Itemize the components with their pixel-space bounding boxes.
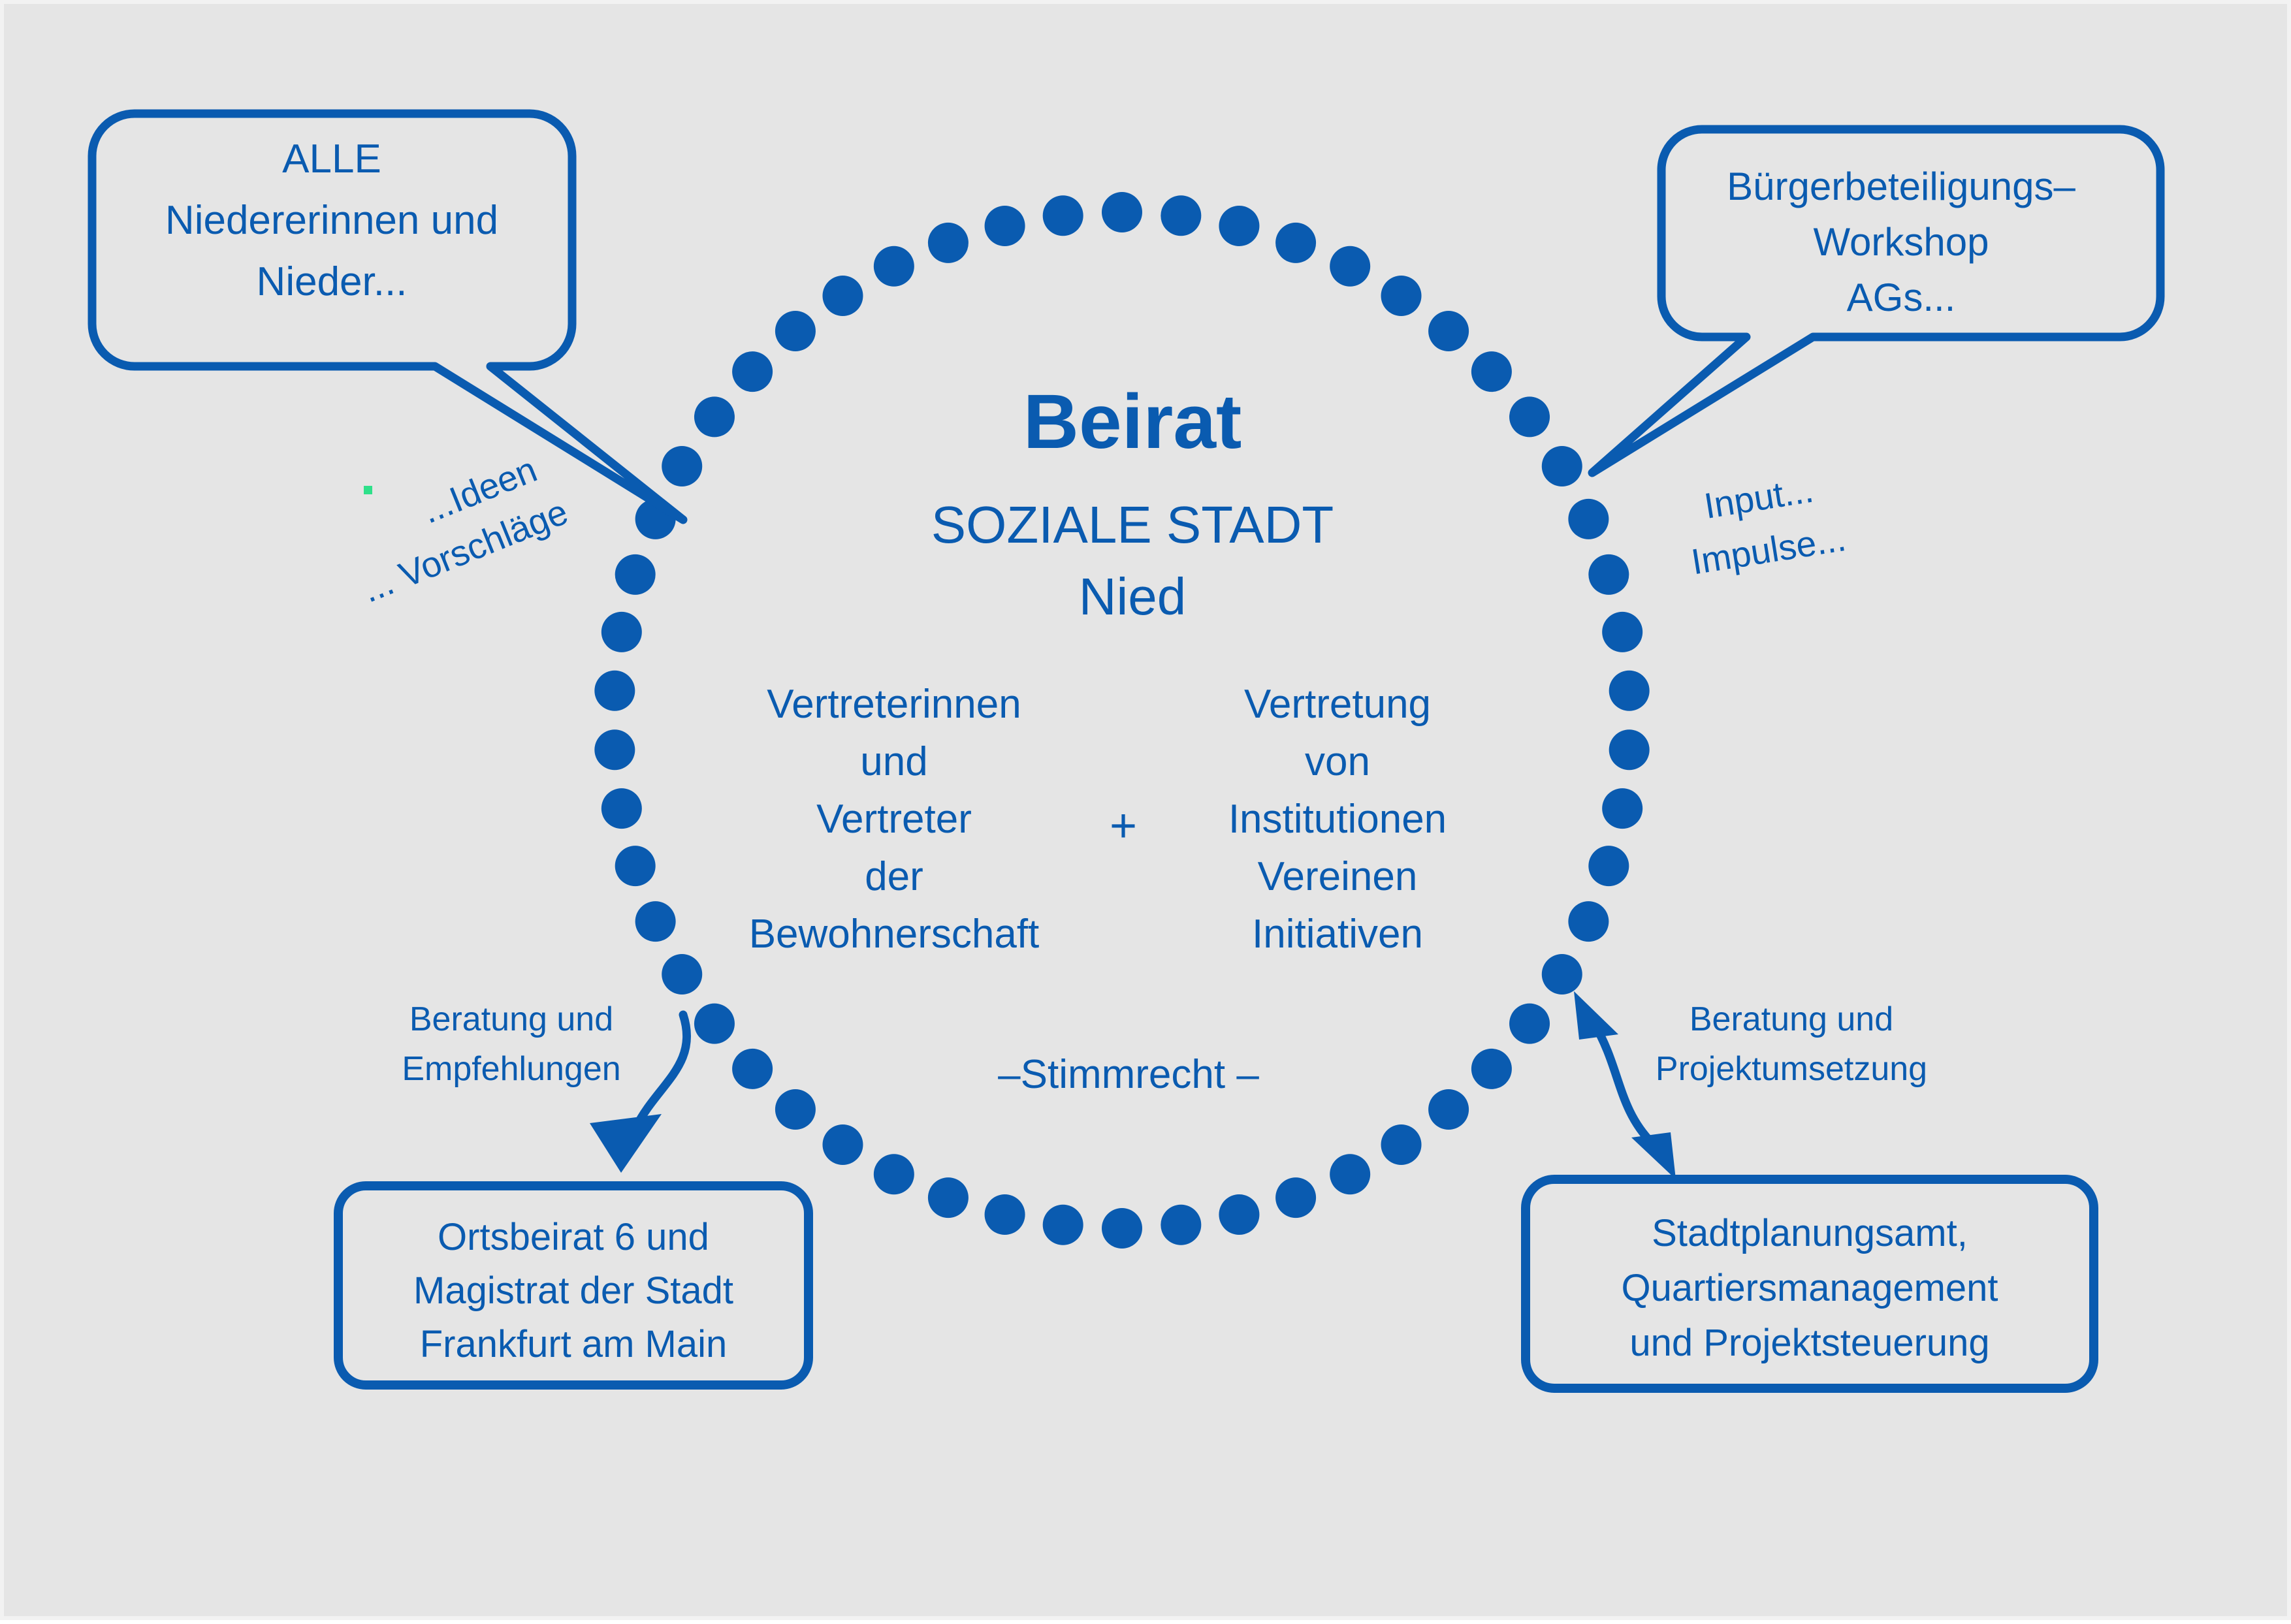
center-right-line-4: Vereinen (1258, 854, 1418, 899)
green-pixel-artifact (364, 486, 372, 494)
center-content: Beirat SOZIALE STADT Nied Vertreterinnen… (749, 379, 1447, 1097)
bottom-right-box[interactable]: Stadtplanungsamt, Quartiersmanagement un… (1526, 1179, 2094, 1388)
beirat-diagram: ALLE Niedererinnen und Nieder... Bürgerb… (4, 4, 2291, 1624)
circle-dot (1219, 1194, 1259, 1235)
right-upper-label-line-1: Input... (1701, 469, 1816, 526)
circle-dot (1219, 206, 1259, 246)
circle-dot (822, 276, 863, 316)
left-lower-label-line-1: Beratung und (409, 1000, 613, 1038)
center-left-line-1: Vertreterinnen (767, 682, 1021, 727)
circle-dot (1428, 311, 1469, 351)
bottom-left-line-1: Ortsbeirat 6 und (438, 1216, 709, 1258)
bottom-left-line-3: Frankfurt am Main (420, 1323, 728, 1365)
bottom-right-line-2: Quartiersmanagement (1621, 1267, 1998, 1309)
center-right-line-2: von (1305, 739, 1370, 784)
bottom-left-line-2: Magistrat der Stadt (413, 1269, 733, 1312)
bottom-left-box[interactable]: Ortsbeirat 6 und Magistrat der Stadt Fra… (338, 1186, 809, 1385)
speech-bubble-top-left[interactable]: ALLE Niedererinnen und Nieder... (92, 114, 683, 520)
circle-dot (1102, 1208, 1142, 1249)
circle-dot (694, 1004, 735, 1044)
connector-label-left-upper: ...Ideen ... Vorschläge (357, 449, 573, 610)
circle-dot (1609, 671, 1650, 711)
circle-dot (1609, 729, 1650, 770)
circle-dot (985, 206, 1025, 246)
diagram-canvas: ALLE Niedererinnen und Nieder... Bürgerb… (0, 0, 2291, 1620)
bubble-tr-line-1: Bürgerbeteiligungs– (1727, 165, 2075, 208)
circle-dot (1588, 554, 1629, 595)
speech-bubble-top-right[interactable]: Bürgerbeteiligungs– Workshop AGs... (1592, 129, 2160, 473)
circle-dot (662, 954, 702, 995)
circle-dot (1471, 1049, 1512, 1089)
center-left-line-2: und (860, 739, 927, 784)
connector-left-lower: Beratung und Empfehlungen (402, 1000, 686, 1173)
bubble-tr-line-2: Workshop (1813, 220, 1989, 264)
left-lower-label-line-2: Empfehlungen (402, 1050, 620, 1088)
circle-dot (1602, 788, 1642, 829)
circle-dot (1161, 1205, 1201, 1245)
circle-dot (1588, 846, 1629, 886)
circle-dot (1509, 1004, 1550, 1044)
center-plus-operator: + (1110, 800, 1137, 852)
circle-dot (985, 1194, 1025, 1235)
circle-dot (1275, 1177, 1316, 1218)
circle-dot (1542, 954, 1582, 995)
left-lower-arrow-head (590, 1114, 662, 1173)
right-lower-label-line-1: Beratung und (1690, 1000, 1893, 1038)
connector-label-right-upper: Input... Impulse... (1688, 469, 1848, 582)
circle-dot (1568, 901, 1609, 942)
circle-dot (1043, 1205, 1083, 1245)
circle-dot (732, 351, 773, 392)
right-lower-arrow-head-down (1631, 1132, 1676, 1179)
circle-dot (732, 1049, 773, 1089)
circle-dot (1471, 351, 1512, 392)
circle-dot (615, 554, 656, 595)
circle-dot (1509, 396, 1550, 437)
circle-dot (822, 1124, 863, 1165)
left-lower-arrow-shaft (636, 1015, 687, 1127)
circle-dot (1428, 1089, 1469, 1130)
bubble-tr-line-3: AGs... (1847, 276, 1956, 319)
center-subtitle: SOZIALE STADT (931, 496, 1334, 554)
circle-dot (1381, 276, 1422, 316)
circle-dot (1043, 195, 1083, 236)
right-lower-arrow-shaft (1594, 1023, 1652, 1143)
circle-dot (594, 729, 635, 770)
circle-dot (662, 446, 702, 486)
circle-dot (874, 1154, 914, 1194)
right-upper-label-line-2: Impulse... (1688, 518, 1848, 582)
circle-dot (1568, 499, 1609, 539)
circle-dot (635, 901, 676, 942)
circle-dot (1381, 1124, 1422, 1165)
circle-dot (594, 671, 635, 711)
circle-dot (928, 223, 969, 263)
bubble-tl-line-2: Niedererinnen und (165, 198, 498, 243)
center-right-line-1: Vertretung (1244, 682, 1431, 727)
speech-bubble-top-left-outline (92, 114, 683, 520)
circle-dot (615, 846, 656, 886)
bottom-right-line-3: und Projektsteuerung (1629, 1322, 1989, 1364)
circle-dot (601, 788, 642, 829)
circle-dot (1102, 192, 1142, 232)
center-left-line-5: Bewohnerschaft (749, 912, 1040, 957)
circle-dot (1275, 223, 1316, 263)
circle-dot (928, 1177, 969, 1218)
right-lower-arrow-head-up (1574, 991, 1618, 1040)
center-right-line-5: Initiativen (1252, 912, 1423, 957)
right-lower-label-line-2: Projektumsetzung (1656, 1050, 1927, 1088)
circle-dot (1602, 612, 1642, 652)
circle-dot (775, 1089, 816, 1130)
connector-right-lower: Beratung und Projektumsetzung (1574, 991, 1927, 1179)
bottom-right-line-1: Stadtplanungsamt, (1652, 1212, 1968, 1254)
circle-dot (1330, 1154, 1370, 1194)
circle-dot (601, 612, 642, 652)
center-left-line-4: der (865, 854, 923, 899)
center-right-line-3: Institutionen (1228, 797, 1447, 842)
center-footnote: –Stimmrecht – (998, 1052, 1259, 1097)
circle-dot (874, 246, 914, 287)
center-title: Beirat (1023, 379, 1242, 465)
center-left-line-3: Vertreter (816, 797, 972, 842)
circle-dot (775, 311, 816, 351)
bubble-tl-line-3: Nieder... (257, 259, 408, 304)
circle-dot (1542, 446, 1582, 486)
circle-dot (1161, 195, 1201, 236)
center-location: Nied (1079, 567, 1187, 626)
circle-dot (694, 396, 735, 437)
bubble-tl-line-1: ALLE (282, 136, 381, 182)
circle-dot (1330, 246, 1370, 287)
